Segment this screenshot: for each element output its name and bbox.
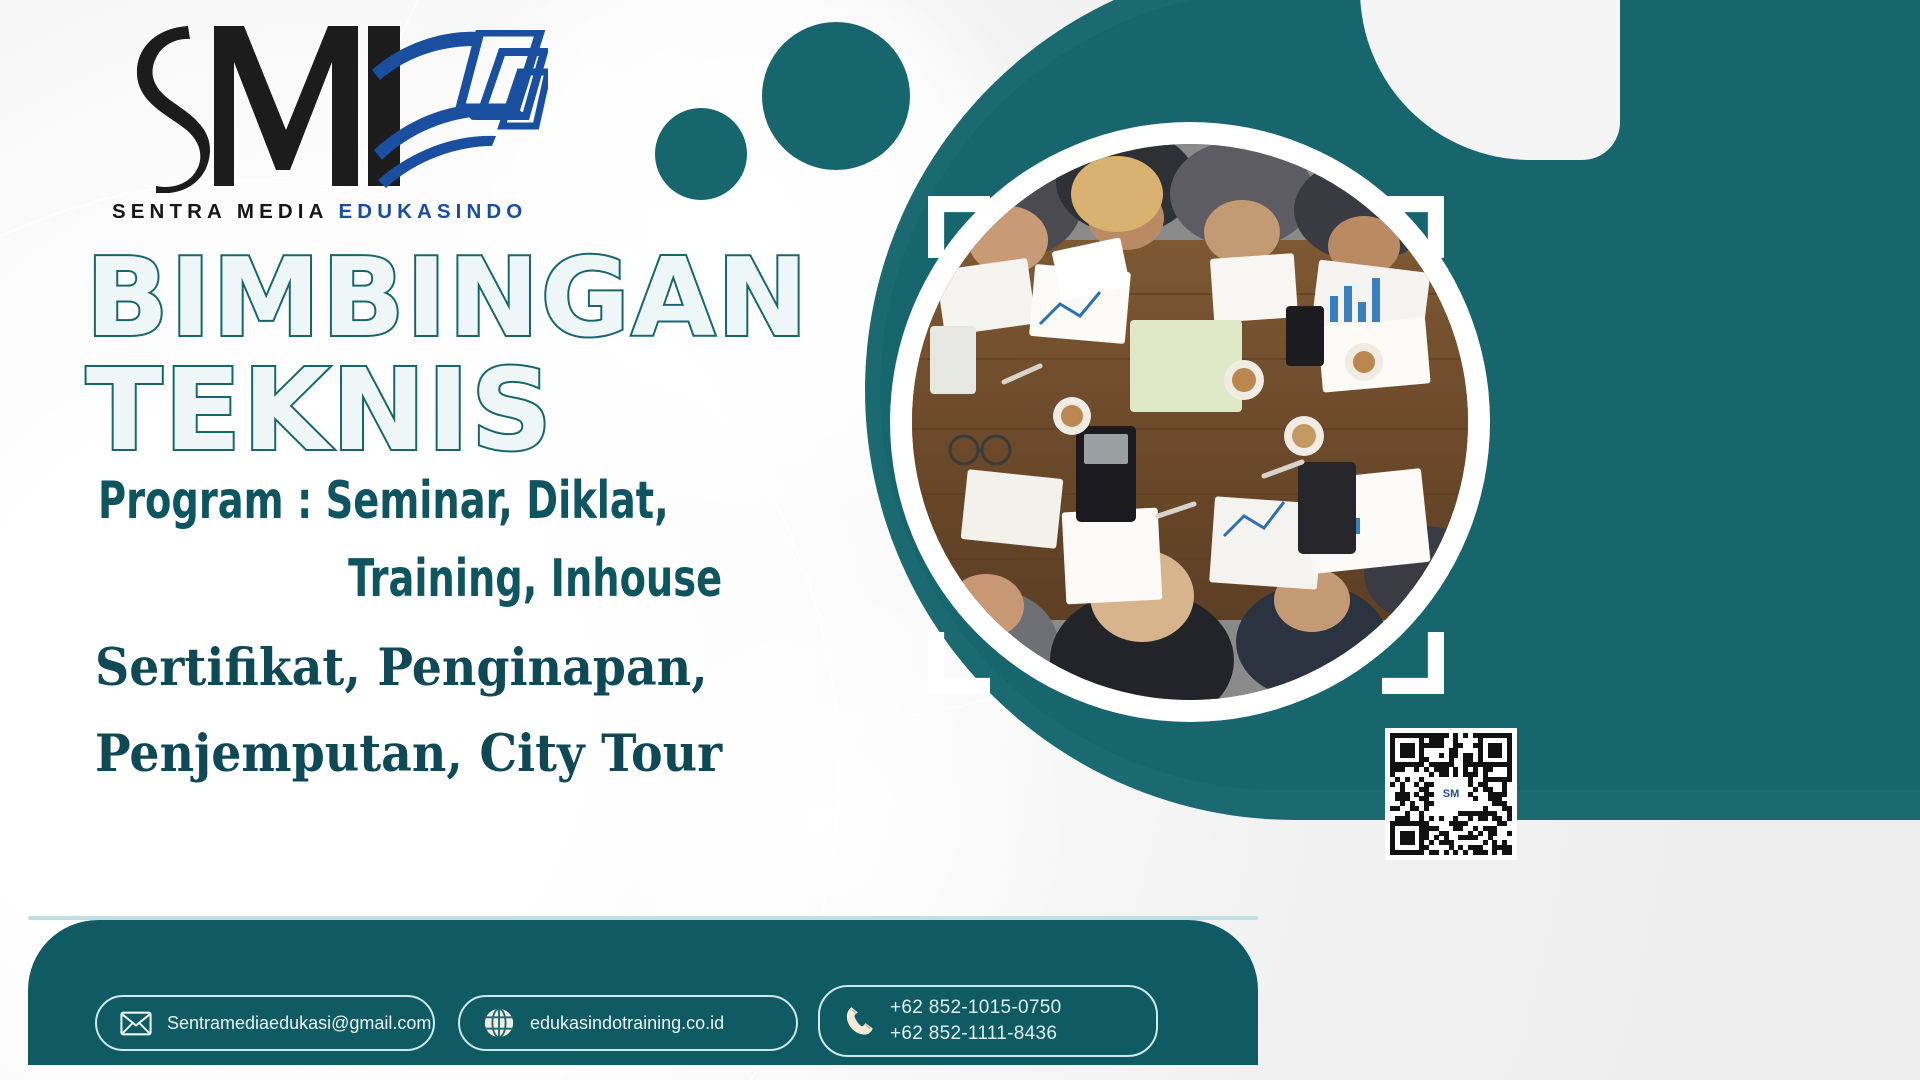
envelope-icon (119, 1006, 153, 1040)
globe-icon (482, 1006, 516, 1040)
brand-tagline-primary: SENTRA MEDIA (112, 200, 339, 223)
open-book-icon (368, 30, 548, 195)
decor-circle-medium (655, 108, 747, 200)
brand-tagline: SENTRA MEDIA EDUKASINDO (112, 200, 572, 224)
business-meeting-overhead-photo (912, 144, 1468, 700)
headline-line-1: BIMBINGAN (86, 243, 906, 355)
benefits-line-2: Penjemputan, City Tour (95, 711, 830, 797)
photo-artwork (912, 144, 1468, 700)
sm-monogram-icon (110, 18, 400, 193)
benefits-line-1: Sertifikat, Penginapan, (95, 625, 830, 711)
main-headline: BIMBINGAN TEKNIS (86, 243, 906, 467)
contact-website-text: edukasindotraining.co.id (530, 1013, 724, 1034)
contact-email-pill[interactable]: Sentramediaedukasi@gmail.com (95, 995, 435, 1051)
brand-logo: SENTRA MEDIA EDUKASINDO (100, 18, 570, 233)
headline-line-2: TEKNIS (86, 355, 906, 467)
contact-phone-pill[interactable]: +62 852-1015-0750 +62 852-1111-8436 (818, 985, 1158, 1057)
benefits-block: Sertifikat, Penginapan, Penjemputan, Cit… (95, 625, 885, 797)
qr-code[interactable]: SM (1385, 728, 1517, 860)
contact-phone-1: +62 852-1015-0750 (890, 997, 1062, 1019)
contact-phone-numbers: +62 852-1015-0750 +62 852-1111-8436 (890, 997, 1062, 1045)
contact-phone-2: +62 852-1111-8436 (890, 1023, 1062, 1045)
qr-center-logo: SM (1434, 777, 1468, 811)
contact-website-pill[interactable]: edukasindotraining.co.id (458, 995, 798, 1051)
decor-circle-large (762, 22, 910, 170)
contact-email-text: Sentramediaedukasi@gmail.com (167, 1013, 431, 1034)
qr-code-matrix: SM (1390, 733, 1512, 855)
program-line-1: Program : Seminar, Diklat, (98, 462, 672, 540)
banner-canvas: SENTRA MEDIA EDUKASINDO BIMBINGAN TEKNIS… (0, 0, 1920, 1080)
telephone-icon (842, 1004, 876, 1038)
program-line-2: Training, Inhouse (98, 540, 672, 618)
brand-tagline-secondary: EDUKASINDO (339, 200, 528, 223)
program-block: Program : Seminar, Diklat, Training, Inh… (98, 462, 798, 618)
